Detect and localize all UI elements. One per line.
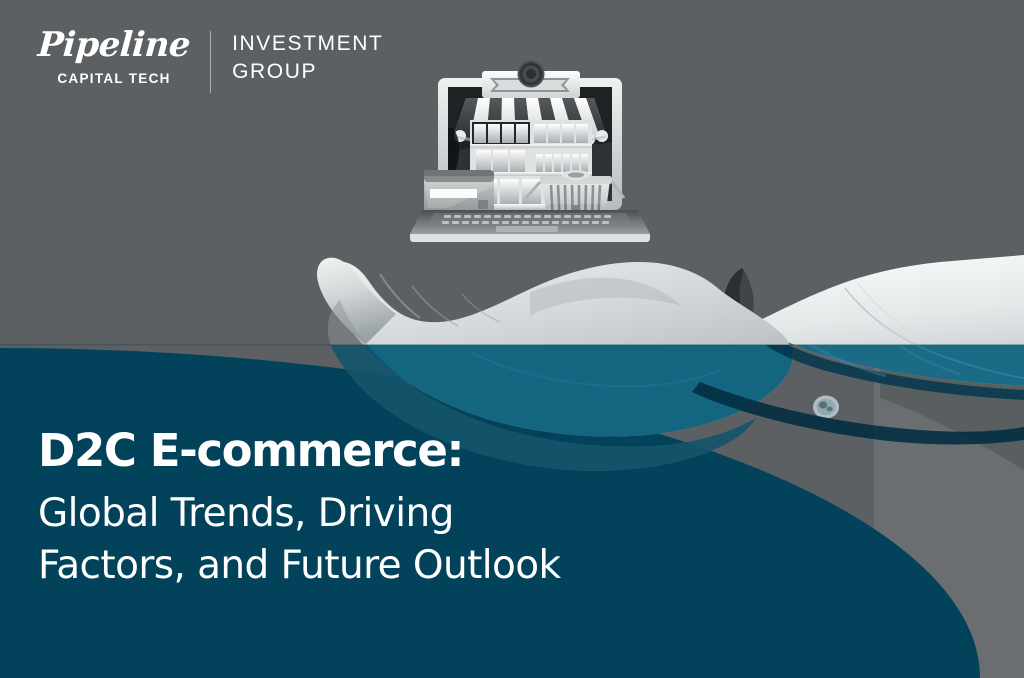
credit-card xyxy=(424,170,494,214)
cuff-button xyxy=(813,396,839,419)
brand-division-line-1: INVESTMENT xyxy=(232,30,383,58)
palm-crease xyxy=(470,352,720,386)
brand-tagline: CAPITAL TECH xyxy=(57,71,170,86)
hero-text-block: D2C E-commerce: Global Trends, Driving F… xyxy=(38,428,561,592)
shop-signboard xyxy=(482,61,580,99)
storefront-laptop-illustration xyxy=(404,58,656,250)
palm-crease-teal xyxy=(470,352,720,386)
brand-logo-primary: Pipeline CAPITAL TECH xyxy=(38,28,210,86)
brand-wordmark: Pipeline xyxy=(37,28,191,62)
logo-divider xyxy=(210,31,211,93)
trackpad xyxy=(496,226,558,232)
rosette-badge xyxy=(518,61,545,88)
page-subtitle: Global Trends, Driving Factors, and Futu… xyxy=(38,488,561,592)
brand-logo[interactable]: Pipeline CAPITAL TECH INVESTMENT GROUP xyxy=(38,28,383,93)
brand-division: INVESTMENT GROUP xyxy=(211,28,383,85)
page-title: D2C E-commerce: xyxy=(38,428,561,474)
cover-slide: Pipeline CAPITAL TECH INVESTMENT GROUP D… xyxy=(0,0,1024,678)
laptop-base xyxy=(410,210,650,242)
brand-division-line-2: GROUP xyxy=(232,58,383,86)
